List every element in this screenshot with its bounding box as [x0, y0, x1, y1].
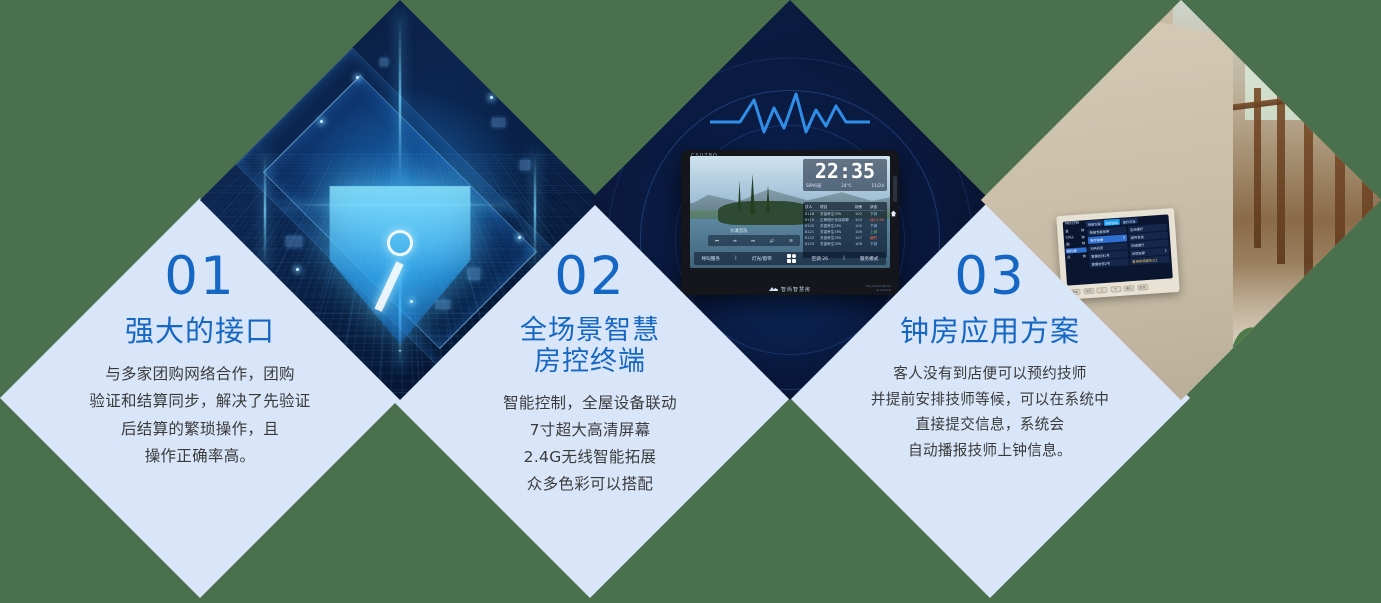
play-icon[interactable]: ⏯	[734, 238, 737, 243]
bar-item-service-mode[interactable]: 服务模式	[860, 256, 878, 262]
panel-button-4[interactable]: 确认	[1123, 285, 1134, 292]
clock-time: 22:35	[806, 161, 884, 181]
card-number-01: 01	[164, 250, 235, 303]
next-icon[interactable]: ⏭	[751, 238, 755, 243]
panel-left-item-4[interactable]: 点钟	[1066, 253, 1087, 259]
panel-tab-1[interactable]: 芳疗SPA	[1103, 219, 1120, 226]
apps-grid-icon[interactable]	[787, 254, 796, 263]
bar-item-light-curtain[interactable]: 灯光/窗帘	[752, 256, 772, 262]
wall-control-panel[interactable]: 钟房控制 保健专案 芳疗SPA 理疗项目 直钟 CALL钟	[1056, 208, 1180, 300]
card-title-03: 钟房应用方案	[900, 315, 1080, 348]
bar-item-aircon[interactable]: 空调·26	[812, 256, 829, 262]
tablet-logo: 智尚智慧房	[769, 286, 811, 293]
panel-left-item-3[interactable]: 预约钟	[1065, 247, 1086, 253]
list-icon[interactable]: ☰	[789, 238, 793, 243]
card-body-03: 客人没有到店便可以预约技师 并提前安排技师等候，可以在系统中 直接提交信息，系统…	[871, 361, 1109, 463]
tablet-screen[interactable]: 22:35 SPA6层 24℃ 11/24 技人 项目 钟房	[690, 156, 890, 268]
panel-row-9[interactable]: 暂停技师服务1/2	[1130, 256, 1170, 265]
card-body-01: 与多家团购网络合作，团购 验证和结算同步，解决了先验证 后结算的繁琐操作，且 操…	[89, 361, 310, 470]
card-number-02: 02	[554, 250, 625, 303]
panel-tab-2[interactable]: 理疗项目	[1121, 218, 1138, 225]
panel-left-item-0[interactable]: 直钟	[1064, 227, 1085, 233]
prev-icon[interactable]: ⏮	[715, 238, 719, 243]
tablet-technician-list[interactable]: 技人 项目 钟房 状态 8118芳香养生SPA102下钟 8119正骨理疗采耳修…	[803, 202, 887, 258]
clock-date: 11/24	[871, 184, 884, 189]
table-row[interactable]: 8123芳香养生SPA108下钟	[805, 241, 885, 247]
clock-temp: 24℃	[841, 184, 852, 189]
bar-divider: |	[735, 256, 737, 261]
panel-left-item-2[interactable]: 圈钟	[1065, 240, 1086, 246]
media-label: 沙滩音乐	[730, 228, 748, 234]
panel-button-1[interactable]: 返回	[1083, 288, 1094, 295]
card-title-01: 强大的接口	[125, 315, 275, 348]
tablet-bottom-bar[interactable]: 呼叫服务 | 灯光/窗帘 空调·26 | 服务模式	[694, 252, 886, 265]
tablet-side-button[interactable]	[893, 176, 897, 202]
card-number-03: 03	[954, 250, 1025, 303]
clock-location: SPA6层	[806, 183, 821, 189]
panel-option-grid[interactable]: 保健专案按摩 足浴理疗 芳疗按摩2 搓背堂浴 SPA机房 修脚理疗 客需技师1号…	[1087, 224, 1170, 268]
room-control-tablet[interactable]: CSUZBO 22:35	[681, 150, 899, 295]
list-header-row: 技人 项目 钟房 状态	[805, 204, 885, 211]
security-shield-icon	[320, 176, 480, 344]
panel-screen[interactable]: 钟房控制 保健专案 芳疗SPA 理疗项目 直钟 CALL钟	[1063, 214, 1173, 285]
panel-button-5[interactable]: 取消	[1137, 284, 1148, 291]
home-icon[interactable]	[890, 210, 897, 217]
panel-row-8[interactable]: 客需技师2号	[1089, 259, 1129, 268]
bar-divider-2: |	[843, 256, 845, 261]
panel-button-2[interactable]: 上	[1096, 287, 1107, 294]
panel-title: 钟房控制	[1065, 221, 1080, 227]
card-body-02: 智能控制，全屋设备联动 7寸超大高清屏幕 2.4G无线智能拓展 众多色彩可以搭配	[503, 390, 677, 499]
media-controls[interactable]: ⏮ ⏯ ⏭ 🔊 ☰	[708, 235, 800, 246]
feature-diamond-banner: 01 强大的接口 与多家团购网络合作，团购 验证和结算同步，解决了先验证 后结算…	[0, 0, 1381, 603]
brand-arrow-icon	[769, 287, 778, 292]
tablet-note: Hey Smart RoomAI Control	[866, 285, 891, 292]
card-title-02: 全场景智慧 房控终端	[520, 315, 660, 377]
panel-tab-0[interactable]: 保健专案	[1086, 220, 1103, 227]
volume-icon[interactable]: 🔊	[770, 238, 775, 243]
panel-left-item-1[interactable]: CALL钟	[1065, 234, 1086, 240]
bar-item-call-service[interactable]: 呼叫服务	[702, 256, 720, 262]
panel-button-3[interactable]: 下	[1110, 286, 1121, 293]
tablet-clock-widget: 22:35 SPA6层 24℃ 11/24	[803, 159, 887, 191]
heartbeat-waveform-icon	[710, 88, 870, 142]
